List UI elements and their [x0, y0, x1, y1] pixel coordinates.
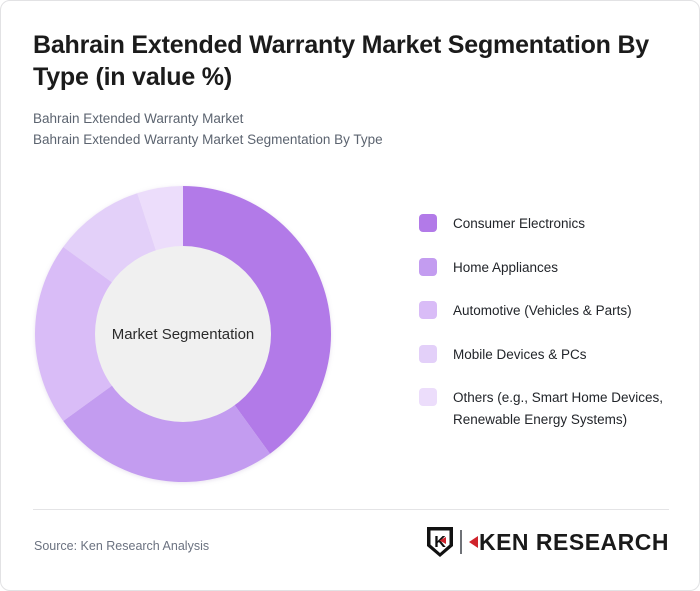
chart-card: Bahrain Extended Warranty Market Segment… [0, 0, 700, 591]
subtitle-block: Bahrain Extended Warranty Market Bahrain… [33, 109, 673, 151]
legend-item[interactable]: Mobile Devices & PCs [419, 344, 679, 366]
legend-item-label: Automotive (Vehicles & Parts) [453, 300, 632, 322]
legend-item[interactable]: Home Appliances [419, 257, 679, 279]
header: Bahrain Extended Warranty Market Segment… [33, 29, 673, 151]
legend-color-swatch [419, 345, 437, 363]
chart-legend: Consumer ElectronicsHome AppliancesAutom… [419, 213, 679, 453]
footer-divider [33, 509, 669, 510]
subtitle-line-1: Bahrain Extended Warranty Market [33, 109, 673, 130]
legend-item[interactable]: Automotive (Vehicles & Parts) [419, 300, 679, 322]
page-title: Bahrain Extended Warranty Market Segment… [33, 29, 673, 93]
legend-item-label: Mobile Devices & PCs [453, 344, 587, 366]
legend-item-label: Others (e.g., Smart Home Devices, Renewa… [453, 387, 679, 430]
legend-color-swatch [419, 388, 437, 406]
legend-item[interactable]: Consumer Electronics [419, 213, 679, 235]
legend-color-swatch [419, 258, 437, 276]
legend-color-swatch [419, 214, 437, 232]
donut-svg [33, 184, 333, 484]
legend-item[interactable]: Others (e.g., Smart Home Devices, Renewa… [419, 387, 679, 430]
ken-research-logo: K KEN RESEARCH [425, 525, 669, 559]
legend-color-swatch [419, 301, 437, 319]
logo-wordmark-text: KEN RESEARCH [479, 529, 669, 556]
subtitle-line-2: Bahrain Extended Warranty Market Segment… [33, 130, 673, 151]
donut-chart: Market Segmentation [33, 184, 333, 484]
chart-area: Market Segmentation Consumer Electronics… [1, 171, 700, 501]
legend-item-label: Consumer Electronics [453, 213, 585, 235]
shield-badge-icon: K [425, 526, 455, 558]
legend-item-label: Home Appliances [453, 257, 558, 279]
logo-triangle-icon [469, 536, 478, 548]
logo-separator [460, 530, 462, 554]
source-text: Source: Ken Research Analysis [34, 539, 209, 553]
logo-wordmark: KEN RESEARCH [469, 529, 669, 556]
donut-hub [95, 246, 271, 422]
